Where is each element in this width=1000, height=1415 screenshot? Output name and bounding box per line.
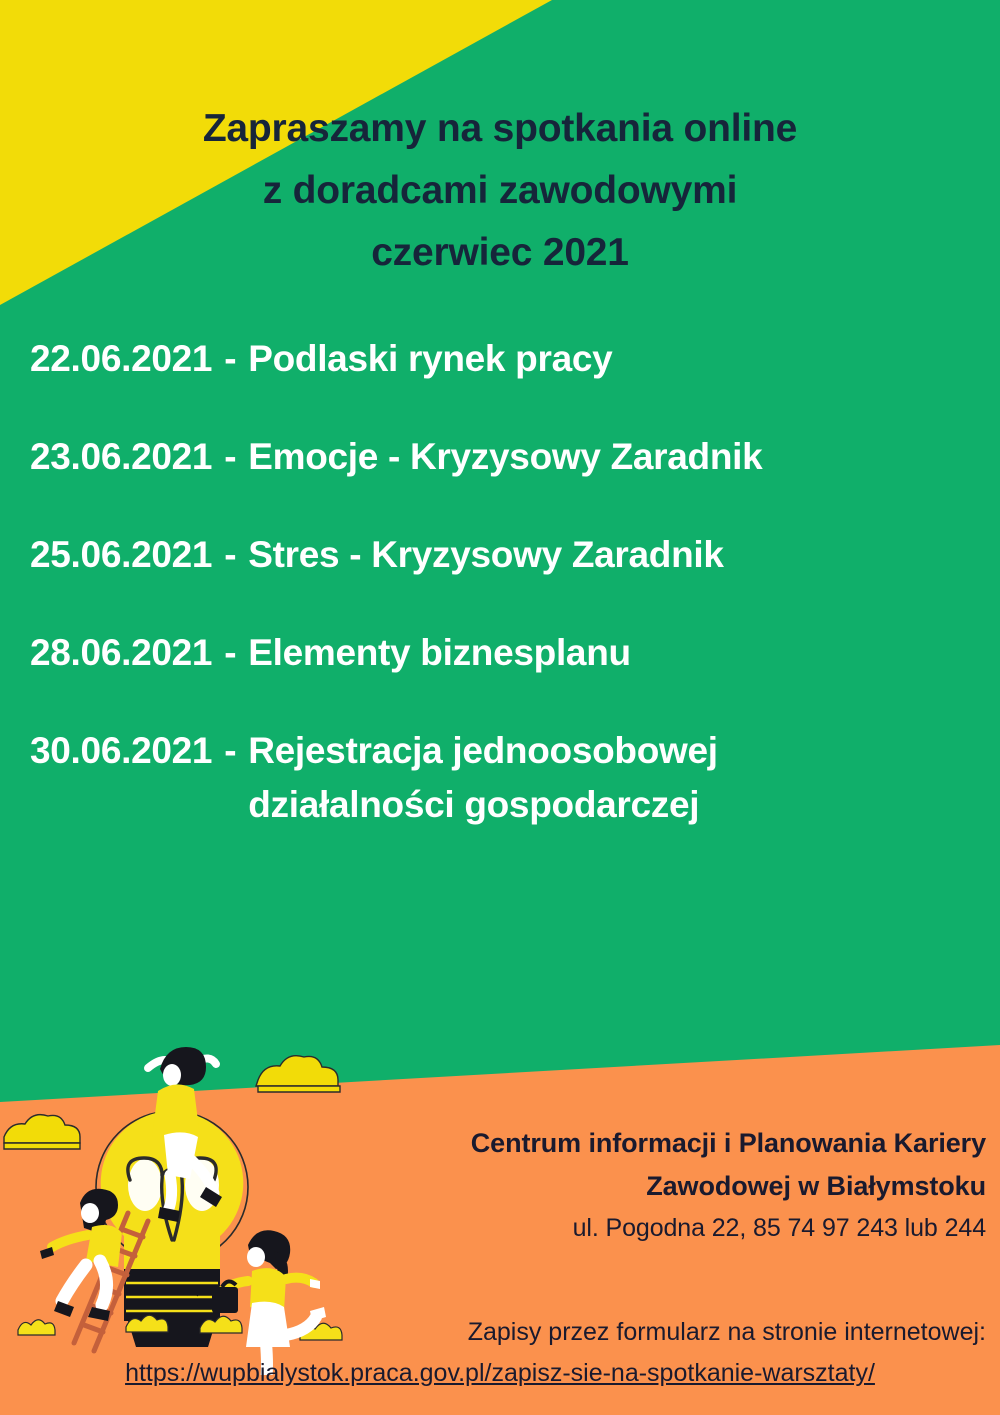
event-separator: - — [212, 626, 248, 680]
event-title: Stres - Kryzysowy Zaradnik — [248, 528, 908, 582]
list-item: 30.06.2021 - Rejestracja jednoosobowej d… — [0, 724, 1000, 832]
organisation-name-line-1: Centrum informacji i Planowania Kariery — [346, 1122, 986, 1165]
event-separator: - — [212, 430, 248, 484]
schedule-list: 22.06.2021 - Podlaski rynek pracy 23.06.… — [0, 332, 1000, 876]
cloud-icon — [4, 1115, 80, 1149]
event-date: 22.06.2021 — [30, 332, 212, 386]
event-title: Podlaski rynek pracy — [248, 332, 908, 386]
signup-url-link[interactable]: https://wupbialystok.praca.gov.pl/zapisz… — [0, 1352, 1000, 1394]
page-title-line-1: Zapraszamy na spotkania online — [0, 98, 1000, 160]
event-separator: - — [212, 528, 248, 582]
list-item: 28.06.2021 - Elementy biznesplanu — [0, 626, 1000, 680]
signup-note: Zapisy przez formularz na stronie intern… — [0, 1312, 1000, 1352]
event-date: 25.06.2021 — [30, 528, 212, 582]
contact-block: Centrum informacji i Planowania Kariery … — [346, 1122, 986, 1248]
organisation-name-line-2: Zawodowej w Białymstoku — [346, 1165, 986, 1208]
event-date: 30.06.2021 — [30, 724, 212, 778]
page-title: Zapraszamy na spotkania online z doradca… — [0, 98, 1000, 284]
list-item: 22.06.2021 - Podlaski rynek pracy — [0, 332, 1000, 386]
event-separator: - — [212, 332, 248, 386]
event-separator: - — [212, 724, 248, 778]
event-title: Elementy biznesplanu — [248, 626, 908, 680]
signup-block: Zapisy przez formularz na stronie intern… — [0, 1312, 1000, 1394]
address-and-phone: ul. Pogodna 22, 85 74 97 243 lub 244 — [346, 1208, 986, 1248]
cloud-icon — [256, 1056, 340, 1092]
page-title-line-3: czerwiec 2021 — [0, 222, 1000, 284]
person-climbing-ladder — [40, 1189, 122, 1321]
poster-canvas: Zapraszamy na spotkania online z doradca… — [0, 0, 1000, 1415]
event-title: Emocje - Kryzysowy Zaradnik — [248, 430, 908, 484]
list-item: 23.06.2021 - Emocje - Kryzysowy Zaradnik — [0, 430, 1000, 484]
list-item: 25.06.2021 - Stres - Kryzysowy Zaradnik — [0, 528, 1000, 582]
event-title: Rejestracja jednoosobowej działalności g… — [248, 724, 908, 832]
event-date: 23.06.2021 — [30, 430, 212, 484]
event-date: 28.06.2021 — [30, 626, 212, 680]
page-title-line-2: z doradcami zawodowymi — [0, 160, 1000, 222]
